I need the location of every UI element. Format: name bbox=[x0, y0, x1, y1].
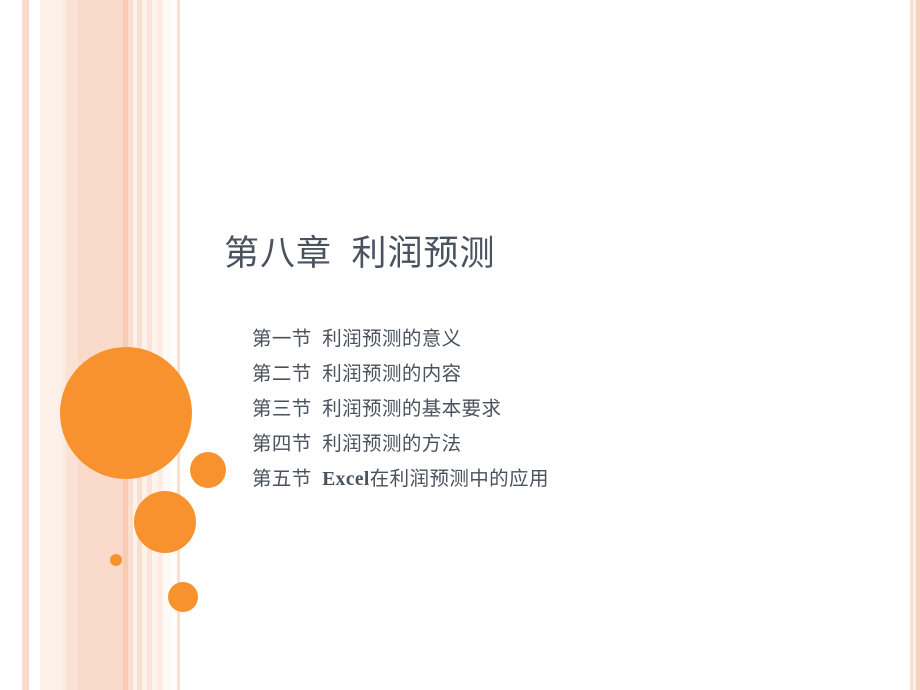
stripe-9 bbox=[123, 0, 128, 690]
section-list: 第一节 利润预测的意义第二节 利润预测的内容第三节 利润预测的基本要求第四节 利… bbox=[252, 322, 852, 497]
bubble-medium bbox=[134, 491, 196, 553]
section-latin-term: Excel bbox=[322, 469, 369, 490]
bubble-dot bbox=[110, 554, 122, 566]
section-list-item: 第四节 利润预测的方法 bbox=[252, 427, 852, 462]
stripe-8 bbox=[78, 0, 123, 690]
right-stripe-3 bbox=[913, 0, 916, 690]
bubble-large bbox=[60, 347, 192, 479]
bubble-bottom bbox=[168, 582, 198, 612]
stripe-7 bbox=[66, 0, 78, 690]
stripe-2 bbox=[22, 0, 29, 690]
right-stripe-band bbox=[908, 0, 920, 690]
right-stripe-1 bbox=[908, 0, 910, 690]
stripe-11 bbox=[133, 0, 137, 690]
stripe-6 bbox=[61, 0, 66, 690]
stripe-13 bbox=[142, 0, 147, 690]
stripe-12 bbox=[137, 0, 142, 690]
stripe-16 bbox=[158, 0, 163, 690]
section-list-item: 第二节 利润预测的内容 bbox=[252, 357, 852, 392]
stripe-14 bbox=[147, 0, 152, 690]
slide-canvas: 第八章 利润预测 第一节 利润预测的意义第二节 利润预测的内容第三节 利润预测的… bbox=[0, 0, 920, 690]
right-stripe-2 bbox=[910, 0, 913, 690]
stripe-10 bbox=[128, 0, 133, 690]
right-stripe-4 bbox=[916, 0, 920, 690]
section-list-item: 第一节 利润预测的意义 bbox=[252, 322, 852, 357]
stripe-1 bbox=[0, 0, 22, 690]
slide-title: 第八章 利润预测 bbox=[224, 232, 844, 276]
section-list-item: 第五节 Excel在利润预测中的应用 bbox=[252, 462, 852, 497]
stripe-3 bbox=[29, 0, 40, 690]
bubble-small-right bbox=[190, 452, 226, 488]
left-stripe-band bbox=[0, 0, 180, 690]
stripe-15 bbox=[152, 0, 158, 690]
stripe-4 bbox=[40, 0, 43, 690]
section-list-item: 第三节 利润预测的基本要求 bbox=[252, 392, 852, 427]
stripe-5 bbox=[43, 0, 61, 690]
